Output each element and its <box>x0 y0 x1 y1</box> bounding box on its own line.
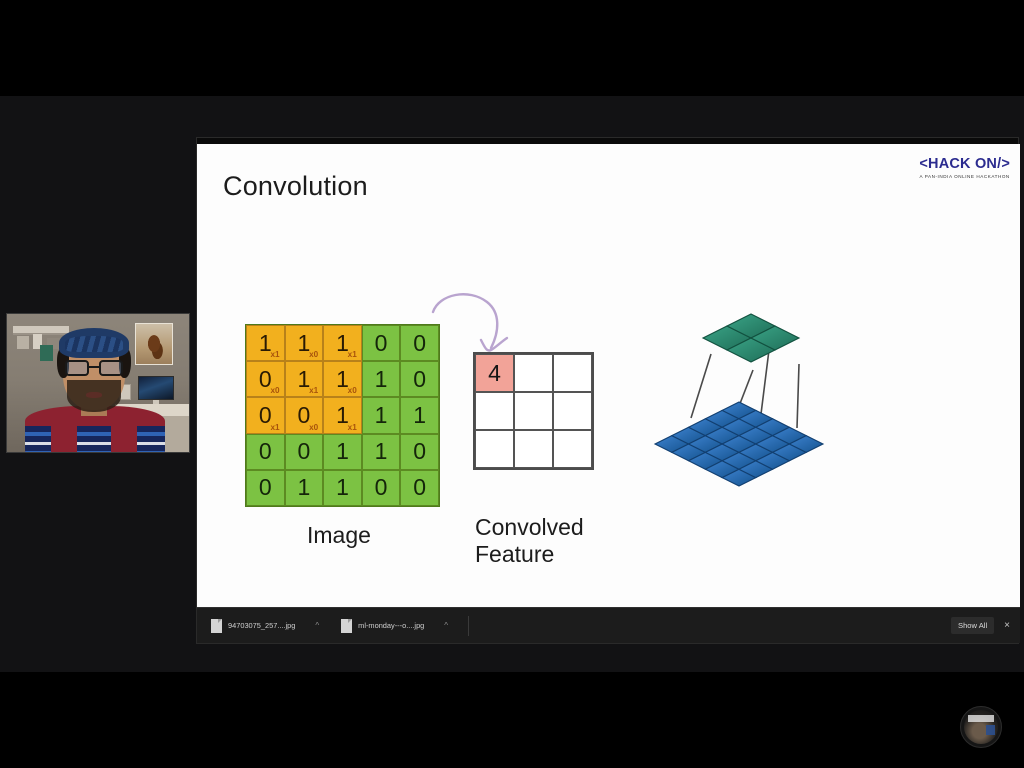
feature-cell <box>475 392 514 430</box>
matrix-cell: 0 <box>400 361 439 397</box>
output-feature-map <box>703 314 799 362</box>
downloads-bar[interactable]: 94703075_257....jpg ^ ml-monday---o....j… <box>197 607 1020 643</box>
chevron-up-icon[interactable]: ^ <box>315 622 319 630</box>
matrix-cell: 0 <box>400 470 439 506</box>
matrix-cell: 1x1 <box>323 325 362 361</box>
feature-cell <box>514 354 553 392</box>
feature-label-line-2: Feature <box>475 541 584 568</box>
matrix-cell: 0x0 <box>285 397 324 433</box>
matrix-cell: 1x0 <box>285 325 324 361</box>
feature-cell <box>553 430 592 468</box>
matrix-cell: 1 <box>285 470 324 506</box>
feature-cell <box>514 430 553 468</box>
file-icon <box>211 619 222 633</box>
close-downloads-bar-button[interactable]: × <box>1004 621 1010 631</box>
desk-monitor <box>138 376 174 400</box>
cell-value: 1 <box>336 438 349 465</box>
download-filename: 94703075_257....jpg <box>228 621 295 630</box>
matrix-cell: 1x1 <box>323 397 362 433</box>
matrix-cell: 1 <box>362 434 401 470</box>
kernel-weight: x1 <box>348 423 357 432</box>
matrix-cell: 1x0 <box>323 361 362 397</box>
meeting-avatar-watermark <box>960 706 1002 748</box>
presenter-bandana <box>59 328 129 358</box>
matrix-cell: 0 <box>246 470 285 506</box>
cell-value: 0 <box>413 366 426 393</box>
matrix-cell: 0x1 <box>246 397 285 433</box>
chevron-up-icon[interactable]: ^ <box>444 622 448 630</box>
feature-label-line-1: Convolved <box>475 514 584 541</box>
presenter-mouth <box>86 392 102 398</box>
kernel-weight: x0 <box>270 386 279 395</box>
presenter-striped-shirt <box>25 426 165 453</box>
glasses-lens-left <box>65 360 89 376</box>
horse-picture-frame <box>135 323 173 365</box>
file-icon <box>341 619 352 633</box>
meeting-screen: Convolution <HACK ON/> A PAN-INDIA ONLIN… <box>0 0 1024 768</box>
kernel-weight: x1 <box>348 350 357 359</box>
cell-value: 0 <box>297 438 310 465</box>
cell-value: 0 <box>413 438 426 465</box>
participant-video-tile[interactable] <box>6 313 190 453</box>
convolved-feature-label: Convolved Feature <box>475 514 584 568</box>
presenter-glasses <box>65 360 123 376</box>
pooling-diagram <box>649 292 919 542</box>
hackathon-logo: <HACK ON/> A PAN-INDIA ONLINE HACKATHON <box>919 156 1010 179</box>
cell-value: 1 <box>375 366 388 393</box>
matrix-cell: 0 <box>246 434 285 470</box>
show-all-downloads-button[interactable]: Show All <box>951 617 994 634</box>
image-matrix-label: Image <box>307 522 371 549</box>
convolved-feature-grid: 4 <box>473 352 594 470</box>
matrix-cell: 1x1 <box>285 361 324 397</box>
kernel-weight: x1 <box>270 350 279 359</box>
green-box-object <box>40 345 53 361</box>
matrix-cell: 0x0 <box>246 361 285 397</box>
matrix-cell: 0 <box>285 434 324 470</box>
feature-cell <box>553 354 592 392</box>
cell-value: 0 <box>375 330 388 357</box>
matrix-cell: 0 <box>362 470 401 506</box>
cell-value: 0 <box>413 474 426 501</box>
cell-value: 1 <box>336 474 349 501</box>
matrix-cell: 0 <box>400 434 439 470</box>
shelf-object <box>17 336 29 349</box>
avatar-accent <box>986 725 995 735</box>
kernel-weight: x0 <box>309 423 318 432</box>
glasses-lens-right <box>99 360 123 376</box>
matrix-cell: 1x1 <box>246 325 285 361</box>
kernel-weight: x0 <box>309 350 318 359</box>
kernel-weight: x0 <box>348 386 357 395</box>
kernel-weight: x1 <box>270 423 279 432</box>
brand-tagline: A PAN-INDIA ONLINE HACKATHON <box>919 174 1010 179</box>
cell-value: 1 <box>413 402 426 429</box>
cell-value: 1 <box>297 474 310 501</box>
download-filename: ml-monday---o....jpg <box>358 621 424 630</box>
feature-cell <box>514 392 553 430</box>
curved-arrow-icon <box>429 286 519 362</box>
feature-value: 4 <box>488 360 501 387</box>
presentation-slide: Convolution <HACK ON/> A PAN-INDIA ONLIN… <box>197 144 1020 609</box>
cell-value: 1 <box>375 438 388 465</box>
cell-value: 0 <box>259 474 272 501</box>
cell-value: 0 <box>413 330 426 357</box>
downloads-bar-actions: Show All × <box>951 617 1012 634</box>
shared-screen[interactable]: Convolution <HACK ON/> A PAN-INDIA ONLIN… <box>196 137 1019 644</box>
download-item[interactable]: 94703075_257....jpg ^ <box>205 614 325 638</box>
page-title: Convolution <box>223 171 368 202</box>
matrix-cell: 1 <box>323 434 362 470</box>
cell-value: 0 <box>259 438 272 465</box>
matrix-cell: 0 <box>362 325 401 361</box>
feature-cell-highlighted: 4 <box>475 354 514 392</box>
matrix-cell: 1 <box>362 397 401 433</box>
feature-cell <box>475 430 514 468</box>
feature-cell <box>553 392 592 430</box>
matrix-cell: 1 <box>323 470 362 506</box>
glasses-bridge <box>89 366 99 368</box>
image-matrix: 1x1 1x0 1x1 0 0 0x0 1x1 1x0 1 0 0x1 0x0 … <box>245 324 440 507</box>
brand-wordmark: <HACK ON/> <box>919 156 1010 172</box>
presenter-vest-left <box>51 410 77 453</box>
matrix-cell: 1 <box>400 397 439 433</box>
download-item[interactable]: ml-monday---o....jpg ^ <box>335 614 454 638</box>
matrix-cell: 1 <box>362 361 401 397</box>
kernel-weight: x1 <box>309 386 318 395</box>
avatar-badge <box>968 715 994 722</box>
cell-value: 0 <box>375 474 388 501</box>
cell-value: 1 <box>375 402 388 429</box>
divider <box>468 616 469 636</box>
presenter-vest-right <box>111 410 137 453</box>
